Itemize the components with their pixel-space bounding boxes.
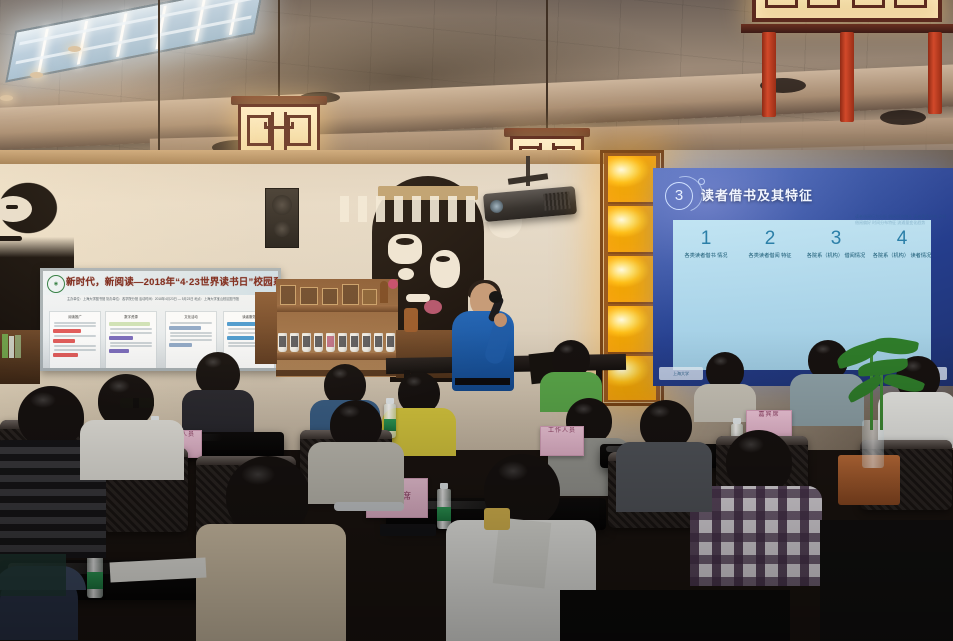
table-name-card: 工作人员 xyxy=(540,426,584,456)
portrait-left-eye xyxy=(6,205,18,209)
audience-head-front xyxy=(18,386,84,448)
ceiling-spotlight xyxy=(0,95,13,101)
slide-column-label: 各类读者借阅 特征 xyxy=(739,253,801,260)
portrait-left-mouth xyxy=(0,236,22,241)
display-mug xyxy=(314,333,323,352)
display-mug xyxy=(362,333,371,352)
display-mug xyxy=(374,333,383,352)
display-mug xyxy=(302,333,311,352)
badge-on-table xyxy=(484,508,510,530)
framed-picture xyxy=(322,288,338,305)
poster-column-header: 阅读推广 xyxy=(52,314,98,320)
phone-on-table xyxy=(380,524,436,536)
display-mug xyxy=(290,333,299,352)
lantern-top-right xyxy=(752,0,942,32)
decor-flower xyxy=(388,279,398,289)
audience-torso xyxy=(616,442,712,512)
book xyxy=(15,335,21,358)
projector-vent xyxy=(543,192,570,211)
audience-torso xyxy=(308,442,404,504)
slide-column-label: 各类读者借书 情况 xyxy=(675,253,737,260)
display-mug xyxy=(278,333,287,352)
decorative-dot-icon xyxy=(698,178,705,185)
foreground-chair xyxy=(820,520,953,641)
framed-picture xyxy=(362,289,377,305)
event-poster-board[interactable]: ◉ 新时代，新阅读—2018年“4·23世界读书日”校园系列活动 主办单位：上海… xyxy=(40,268,281,371)
decor-bottle xyxy=(404,308,418,332)
audience-torso xyxy=(182,390,254,434)
display-mug xyxy=(350,333,359,352)
framed-picture xyxy=(280,285,296,305)
wall-loudspeaker xyxy=(265,188,299,248)
presenter-hand xyxy=(494,313,507,327)
foreground-shadow xyxy=(560,590,790,641)
decor-vase xyxy=(380,281,388,303)
display-mug xyxy=(338,333,347,352)
display-mug xyxy=(326,333,335,352)
poster-column: 数字资源 xyxy=(105,311,157,371)
dark-object-on-table xyxy=(0,554,66,596)
display-mug xyxy=(386,333,395,352)
framed-picture xyxy=(342,284,359,305)
water-bottle xyxy=(87,552,103,598)
ceiling-spotlight xyxy=(30,72,43,78)
poster-column-header: 数字资源 xyxy=(108,314,154,320)
ceiling-spotlight xyxy=(68,46,81,52)
slide-faint-text: 读者借阅行为分析 借阅册次统计 读者类型分布 学科借阅偏好 时间分布特征 流通量… xyxy=(855,214,947,314)
eyeglasses-icon xyxy=(120,398,154,408)
slide-column-2: 2 各类读者借阅 特征 xyxy=(739,228,801,260)
slide-footer-left: 上海大学 xyxy=(659,367,703,380)
slide-column-1: 1 各类读者借书 情况 xyxy=(675,228,737,260)
name-card-text: 工作人员 xyxy=(541,427,583,436)
ceiling-vent xyxy=(880,110,926,125)
decor-flowers xyxy=(424,300,442,314)
slide-column-number: 1 xyxy=(675,228,737,250)
poster-headline: 新时代，新阅读—2018年“4·23世界读书日”校园系列活动 xyxy=(66,274,280,292)
pen-on-table xyxy=(334,502,404,511)
shelf-side-panel xyxy=(255,292,277,364)
mural-paper-strips xyxy=(340,196,490,222)
framed-picture xyxy=(300,287,318,305)
poster-subline: 主办单位：上海大学图书馆 协办单位：各学院分馆 活动时间：2018年4月23日 … xyxy=(67,297,267,307)
audience-torso-beige xyxy=(196,524,346,641)
library-logo-icon: ◉ xyxy=(47,275,65,293)
audience-torso xyxy=(80,420,184,480)
presenter-belt xyxy=(455,378,510,385)
poster-column-header: 文化活动 xyxy=(168,314,214,320)
name-card-text: 嘉宾席 xyxy=(747,411,791,420)
book xyxy=(9,336,14,358)
slide-title: 读者借书及其特征 xyxy=(701,185,813,204)
audience-head-front xyxy=(726,430,792,494)
display-shelf xyxy=(276,279,398,377)
book xyxy=(2,334,8,358)
projector-lens-icon xyxy=(490,199,504,213)
poster-column: 阅读推广 xyxy=(49,311,101,371)
slide-section-number: 3 xyxy=(665,182,693,210)
presentation-room-photo: ◉ 新时代，新阅读—2018年“4·23世界读书日”校园系列活动 主办单位：上海… xyxy=(0,0,953,641)
slide-column-number: 2 xyxy=(739,228,801,250)
water-bottle xyxy=(437,489,451,529)
wall-trim-rail xyxy=(0,150,640,164)
microphone-head-icon xyxy=(489,291,502,303)
